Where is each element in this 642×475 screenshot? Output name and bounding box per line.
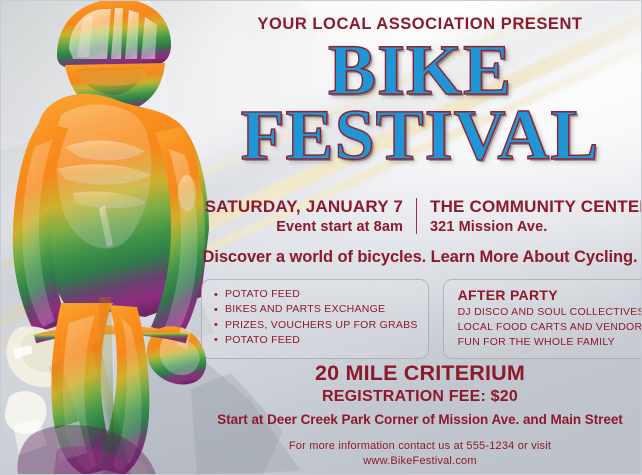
event-address: 321 Mission Ave.: [430, 218, 642, 237]
event-info-grid: SATURDAY, JANUARY 7 Event start at 8am T…: [203, 196, 637, 237]
features-panel: POTATO FEED BIKES AND PARTS EXCHANGE PRI…: [201, 279, 429, 359]
event-date: SATURDAY, JANUARY 7: [203, 196, 403, 217]
after-party-list: DJ DISCO AND SOUL COLLECTIVES LOCAL FOOD…: [458, 305, 642, 351]
list-item: LOCAL FOOD CARTS AND VENDORS: [458, 320, 642, 335]
footer-contact-line: For more information contact us at 555-1…: [197, 439, 642, 454]
poster-content: YOUR LOCAL ASSOCIATION PRESENT BIKE FEST…: [197, 1, 642, 475]
list-item: DJ DISCO AND SOUL COLLECTIVES: [458, 305, 642, 320]
event-venue-column: THE COMMUNITY CENTER 321 Mission Ave.: [417, 196, 642, 237]
list-item: BIKES AND PARTS EXCHANGE: [214, 302, 418, 317]
list-item: PRIZES, VOUCHERS UP FOR GRABS: [214, 318, 418, 333]
list-item: POTATO FEED: [214, 287, 418, 302]
event-date-column: SATURDAY, JANUARY 7 Event start at 8am: [203, 196, 416, 237]
footer-website: www.BikeFestival.com: [197, 454, 642, 469]
race-name: 20 MILE CRITERIUM: [197, 361, 642, 386]
poster-title: BIKE FESTIVAL: [197, 39, 642, 168]
footer-contact: For more information contact us at 555-1…: [197, 439, 642, 468]
event-start-time: Event start at 8am: [203, 218, 403, 237]
race-start-location: Start at Deer Creek Park Corner of Missi…: [197, 412, 642, 427]
after-party-heading: AFTER PARTY: [458, 287, 642, 303]
tagline: Discover a world of bicycles. Learn More…: [197, 248, 642, 267]
list-item: FUN FOR THE WHOLE FAMILY: [458, 335, 642, 350]
registration-fee: REGISTRATION FEE: $20: [197, 388, 642, 406]
title-line-2: FESTIVAL: [197, 104, 642, 167]
features-list: POTATO FEED BIKES AND PARTS EXCHANGE PRI…: [214, 287, 418, 348]
title-line-1: BIKE: [197, 39, 642, 102]
bike-festival-invitation: YOUR LOCAL ASSOCIATION PRESENT BIKE FEST…: [0, 0, 642, 475]
panels-row: POTATO FEED BIKES AND PARTS EXCHANGE PRI…: [201, 279, 639, 359]
after-party-panel: AFTER PARTY DJ DISCO AND SOUL COLLECTIVE…: [443, 279, 642, 359]
event-venue: THE COMMUNITY CENTER: [430, 196, 642, 217]
list-item: POTATO FEED: [214, 333, 418, 348]
